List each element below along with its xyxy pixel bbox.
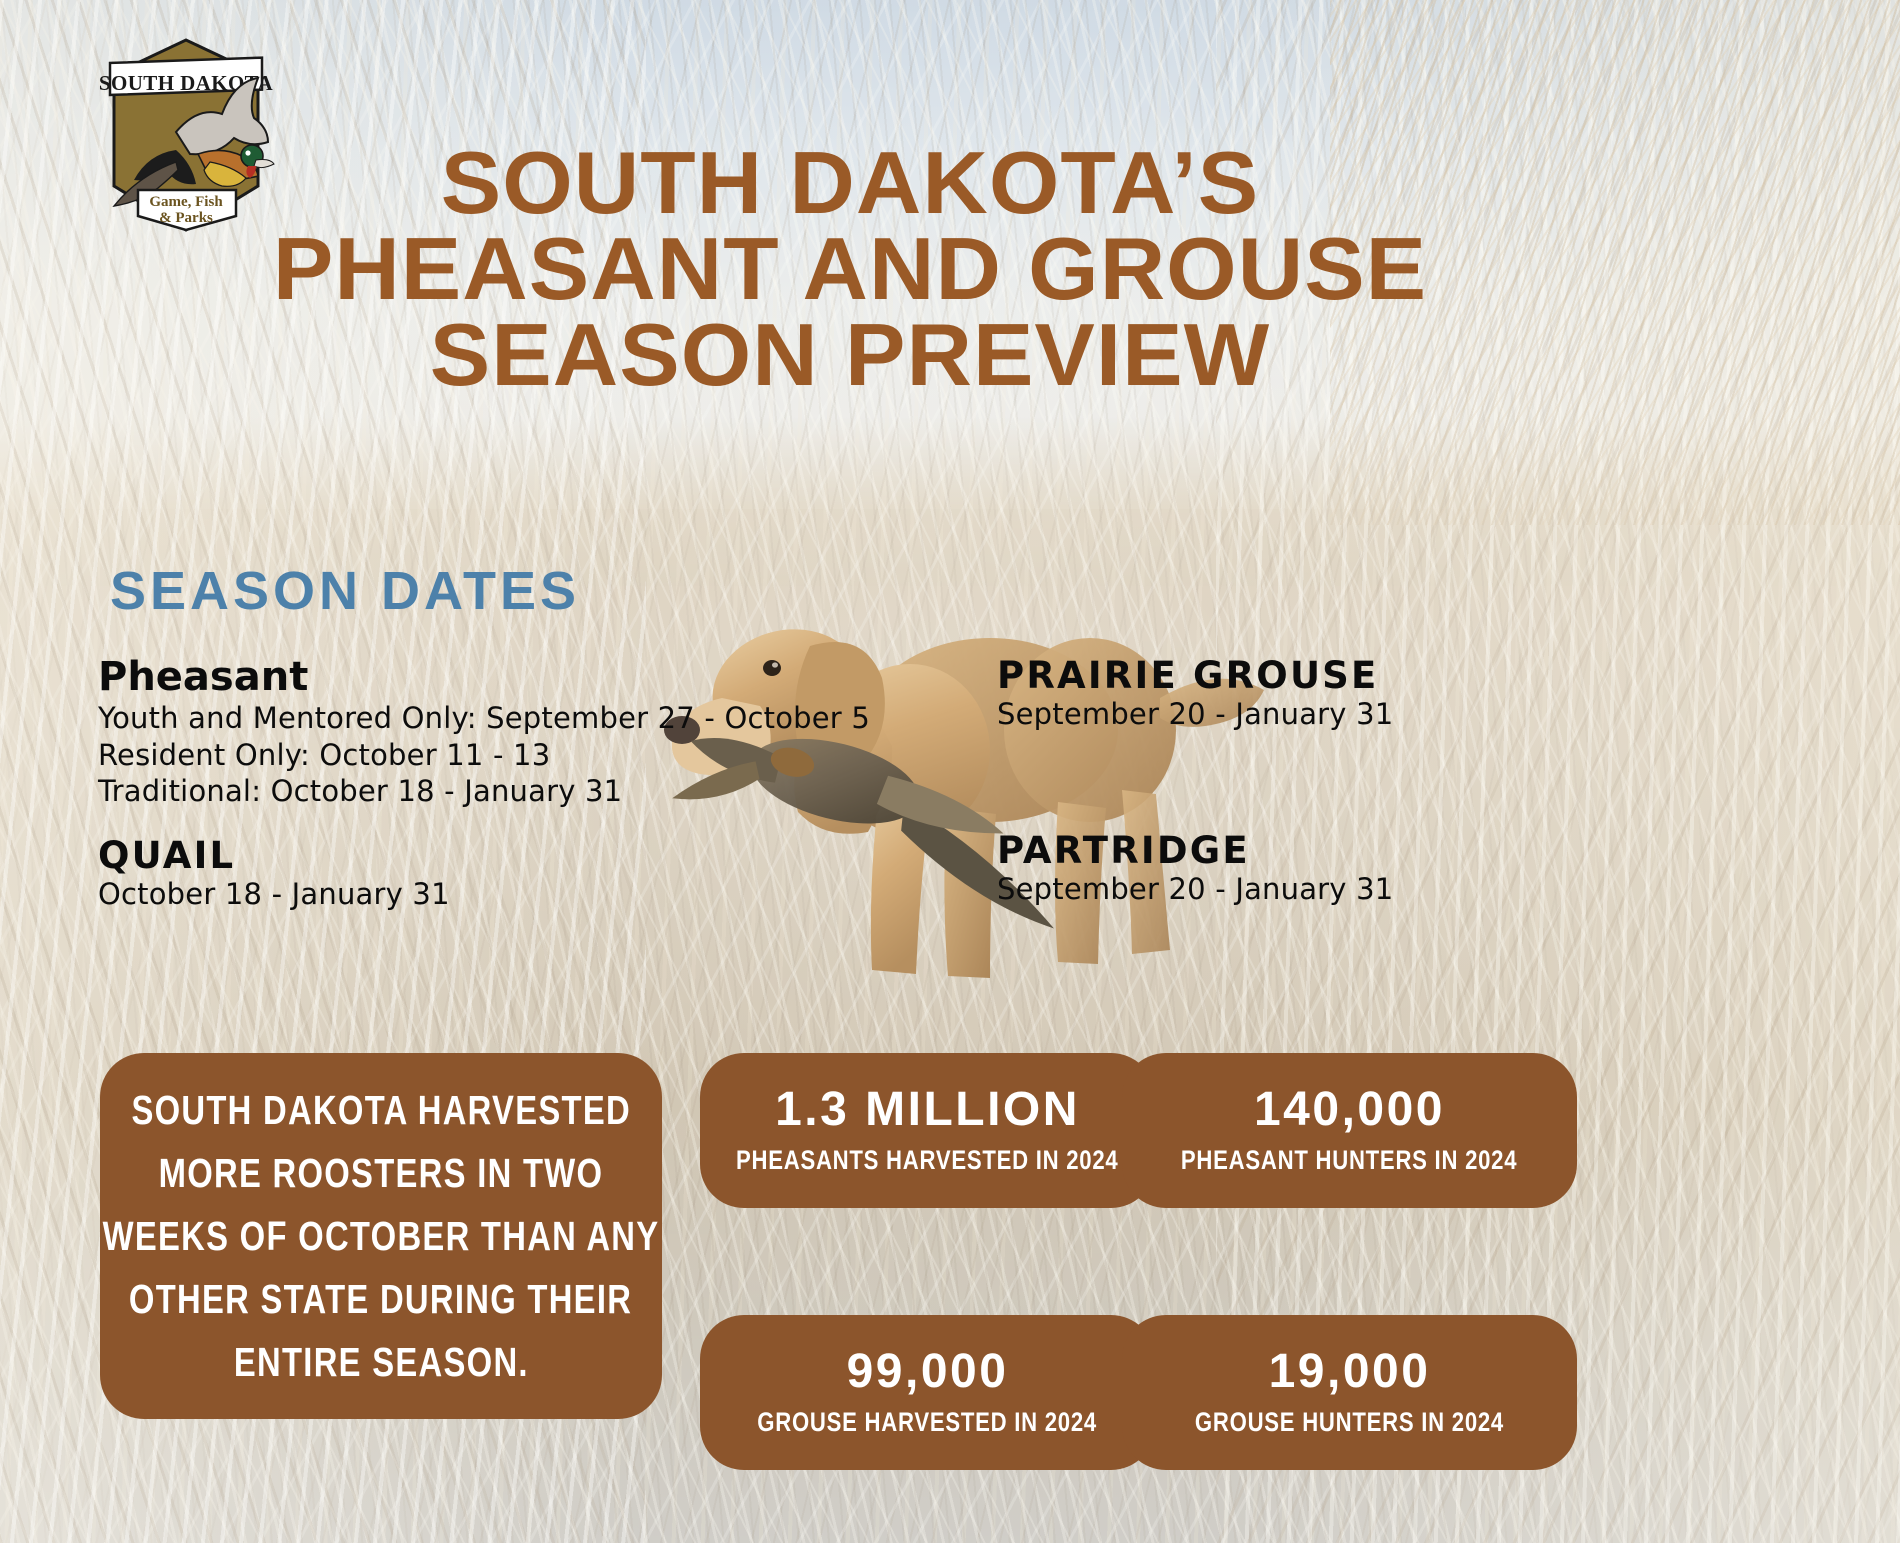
quote-line: ENTIRE SEASON. (234, 1342, 529, 1383)
section-heading-partridge: PARTRIDGE (997, 830, 1757, 871)
stat-card-grouse-hunters: 19,000 GROUSE HUNTERS IN 2024 (1122, 1315, 1577, 1470)
section-line: Traditional: October 18 - January 31 (98, 773, 918, 810)
section-line: September 20 - January 31 (997, 696, 1757, 733)
section-heading-quail: QUAIL (98, 835, 798, 876)
section-heading-prairie-grouse: PRAIRIE GROUSE (997, 655, 1757, 696)
page-title: SOUTH DAKOTA’S PHEASANT AND GROUSE SEASO… (129, 140, 1571, 399)
section-heading-pheasant: Pheasant (98, 655, 918, 700)
section-line: October 18 - January 31 (98, 876, 798, 913)
quote-line: SOUTH DAKOTA HARVESTED (131, 1090, 631, 1131)
stat-value: 99,000 (847, 1347, 1009, 1397)
harvest-highlight-card: SOUTH DAKOTA HARVESTED MORE ROOSTERS IN … (100, 1053, 662, 1419)
title-line-3: SEASON PREVIEW (129, 312, 1571, 398)
stat-card-grouse-harvested: 99,000 GROUSE HARVESTED IN 2024 (700, 1315, 1155, 1470)
stat-card-pheasants-harvested: 1.3 MILLION PHEASANTS HARVESTED IN 2024 (700, 1053, 1155, 1208)
season-section-pheasant: Pheasant Youth and Mentored Only: Septem… (98, 655, 918, 810)
stat-value: 19,000 (1269, 1347, 1431, 1397)
season-section-prairie-grouse: PRAIRIE GROUSE September 20 - January 31 (997, 655, 1757, 733)
stat-value: 140,000 (1254, 1085, 1445, 1135)
stat-label: PHEASANTS HARVESTED IN 2024 (736, 1146, 1118, 1176)
title-line-2: PHEASANT AND GROUSE (129, 226, 1571, 312)
title-line-1: SOUTH DAKOTA’S (129, 140, 1571, 226)
quote-line: OTHER STATE DURING THEIR (129, 1279, 632, 1320)
quote-line: WEEKS OF OCTOBER THAN ANY (103, 1216, 660, 1257)
stat-value: 1.3 MILLION (775, 1085, 1080, 1135)
stat-label: GROUSE HUNTERS IN 2024 (1195, 1408, 1504, 1438)
stat-card-pheasant-hunters: 140,000 PHEASANT HUNTERS IN 2024 (1122, 1053, 1577, 1208)
section-line: Youth and Mentored Only: September 27 - … (98, 700, 918, 737)
section-line: September 20 - January 31 (997, 871, 1757, 908)
stat-label: PHEASANT HUNTERS IN 2024 (1181, 1146, 1517, 1176)
section-line: Resident Only: October 11 - 13 (98, 737, 918, 774)
season-section-quail: QUAIL October 18 - January 31 (98, 835, 798, 913)
quote-line: MORE ROOSTERS IN TWO (159, 1153, 604, 1194)
season-section-partridge: PARTRIDGE September 20 - January 31 (997, 830, 1757, 908)
stat-label: GROUSE HARVESTED IN 2024 (758, 1408, 1098, 1438)
season-dates-heading: SEASON DATES (110, 560, 580, 622)
